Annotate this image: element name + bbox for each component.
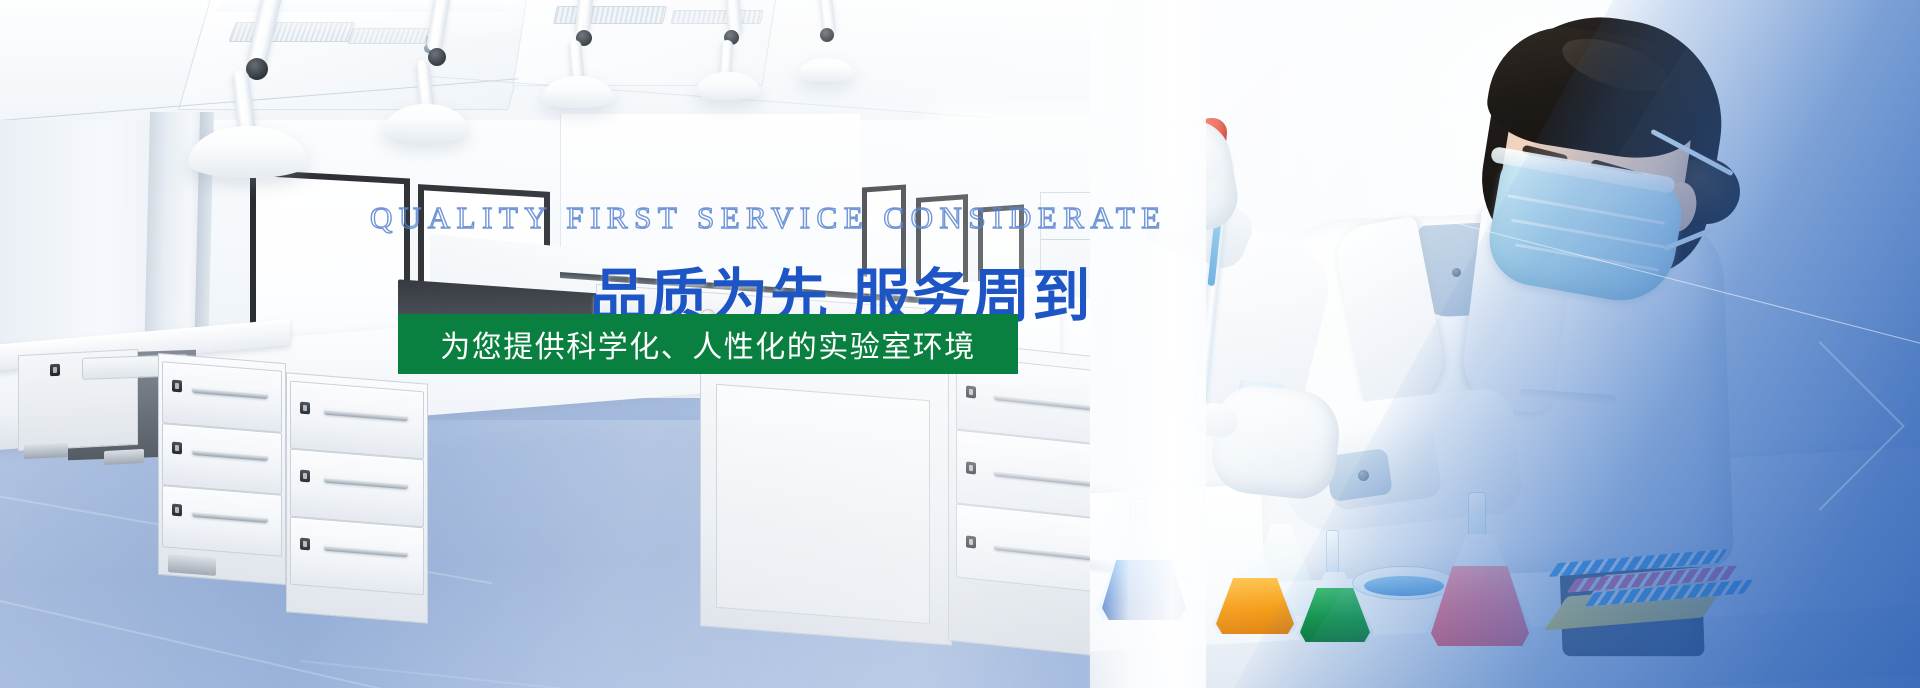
cabinet-foot: [168, 554, 216, 576]
drawer-lock[interactable]: [966, 535, 976, 548]
cabinet-foot: [104, 449, 144, 465]
drawer-lock[interactable]: [172, 504, 182, 517]
cabinet-door[interactable]: [716, 384, 930, 624]
cuff-button: [1358, 470, 1369, 481]
ceiling-vent-grille-icon: [347, 28, 433, 44]
ceiling-vent-grille-icon: [228, 22, 355, 42]
drawer-lock[interactable]: [300, 402, 310, 415]
drawer-lock[interactable]: [966, 461, 976, 474]
scientist-photo: [1090, 0, 1920, 688]
flask-liquid-blue: [1102, 560, 1186, 620]
hero-banner: QUALITY FIRST SERVICE CONSIDERATE 品质为先 服…: [0, 0, 1920, 688]
drawer-lock[interactable]: [172, 380, 182, 393]
ceiling-vent-grille-icon: [671, 10, 764, 24]
drawer-lock[interactable]: [50, 364, 60, 377]
drawer-lock[interactable]: [300, 470, 310, 483]
cabinet-foot: [24, 443, 68, 459]
subtitle-text: 为您提供科学化、人性化的实验室环境: [440, 322, 976, 366]
drawer-lock[interactable]: [966, 385, 976, 398]
subtitle-green-bar: 为您提供科学化、人性化的实验室环境: [398, 314, 1018, 374]
arm-joint: [428, 48, 446, 66]
flask-neck: [1326, 530, 1339, 574]
petri-dish-liquid: [1364, 576, 1444, 596]
ceiling-panel: [178, 0, 542, 110]
arm-joint: [246, 58, 268, 80]
white-latex-glove: [1209, 382, 1344, 502]
shirt-button: [1452, 268, 1461, 277]
ceiling-vent-grille-icon: [553, 6, 667, 24]
drawer-lock[interactable]: [300, 538, 310, 551]
drawer-lock[interactable]: [172, 442, 182, 455]
arm-joint: [820, 28, 834, 42]
headline-english: QUALITY FIRST SERVICE CONSIDERATE: [370, 200, 1030, 236]
